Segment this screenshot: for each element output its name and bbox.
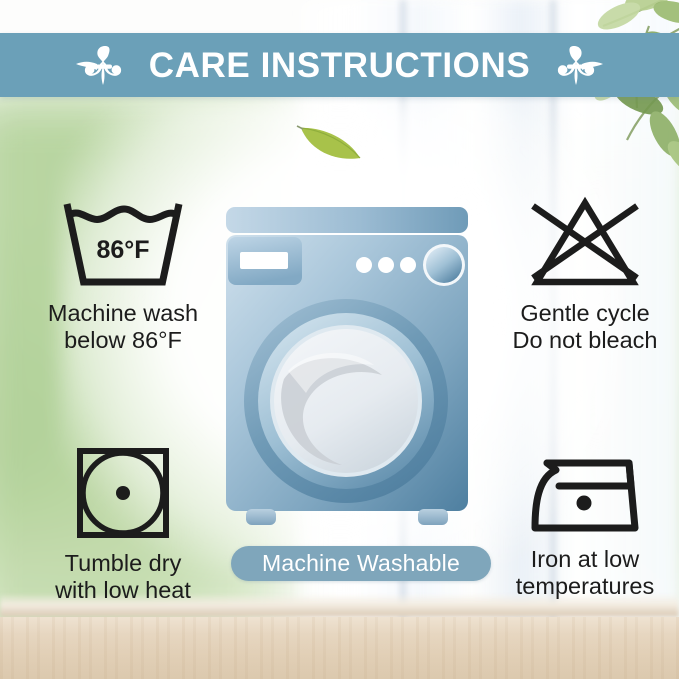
wash-temperature-value: 86°F xyxy=(96,236,149,264)
header-banner: CARE INSTRUCTIONS xyxy=(0,33,679,97)
care-instructions-graphic: CARE INSTRUCTIONS 86°F Machi xyxy=(0,0,679,679)
care-item-label: Tumble dry with low heat xyxy=(55,550,191,605)
care-item-machine-wash: 86°F Machine wash below 86°F xyxy=(18,196,228,355)
care-item-gentle-cycle-no-bleach: Gentle cycle Do not bleach xyxy=(492,196,678,355)
tumble-dry-low-icon xyxy=(74,446,172,540)
care-item-label: Machine wash below 86°F xyxy=(48,300,198,355)
care-item-iron-low: Iron at low temperatures xyxy=(492,446,678,601)
care-item-label: Iron at low temperatures xyxy=(516,546,654,601)
fleur-de-lis-icon xyxy=(548,42,604,88)
leaf-icon xyxy=(296,118,366,166)
page-title: CARE INSTRUCTIONS xyxy=(149,48,531,83)
iron-low-heat-icon xyxy=(525,446,645,536)
wooden-table-surface xyxy=(0,617,679,679)
care-item-label: Gentle cycle Do not bleach xyxy=(512,300,657,355)
fleur-de-lis-icon xyxy=(75,42,131,88)
washing-machine-icon xyxy=(222,203,472,543)
status-badge: Machine Washable xyxy=(231,546,491,581)
status-badge-label: Machine Washable xyxy=(262,550,460,577)
bleach-triangle-crossed-icon xyxy=(523,196,647,290)
wash-basin-icon: 86°F xyxy=(61,196,185,290)
care-item-tumble-dry: Tumble dry with low heat xyxy=(18,446,228,605)
